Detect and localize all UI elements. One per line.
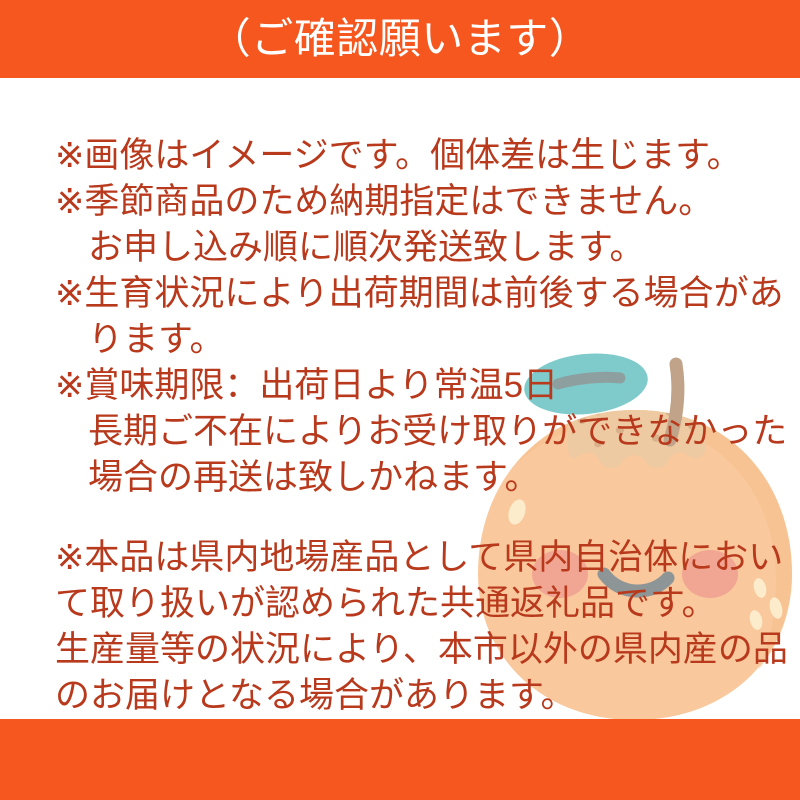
notice-line: て取り扱いが認められた共通返礼品です。 [55, 586, 717, 621]
notice-line: ※生育状況により出荷期間は前後する場合があ [55, 276, 784, 311]
notice-line: 場合の再送は致しかねます。 [88, 460, 540, 495]
notice-line: ※本品は県内地場産品として県内自治体におい [55, 540, 783, 575]
notice-line: 長期ご不在によりお受け取りができなかった [88, 414, 787, 449]
footer-bar [0, 719, 800, 800]
notice-line: ※賞味期限：出荷日より常温5日 [55, 368, 558, 403]
header-bar: （ご確認願います） [0, 0, 800, 78]
notice-line: のお届けとなる場合があります。 [55, 678, 575, 713]
notice-line: お申し込み順に順次発送致します。 [88, 230, 645, 265]
notice-line: ります。 [88, 322, 225, 357]
notice-line: 生産量等の状況により、本市以外の県内産の品 [55, 632, 788, 667]
notice-line: ※画像はイメージです。個体差は生じます。 [55, 138, 742, 173]
page-title: （ご確認願います） [209, 18, 592, 60]
notice-image: （ご確認願います） ※画像はイメージです。個体差は生じます。 ※季節商品のため納… [0, 0, 800, 800]
notice-line: ※季節商品のため納期指定はできません。 [55, 184, 713, 219]
